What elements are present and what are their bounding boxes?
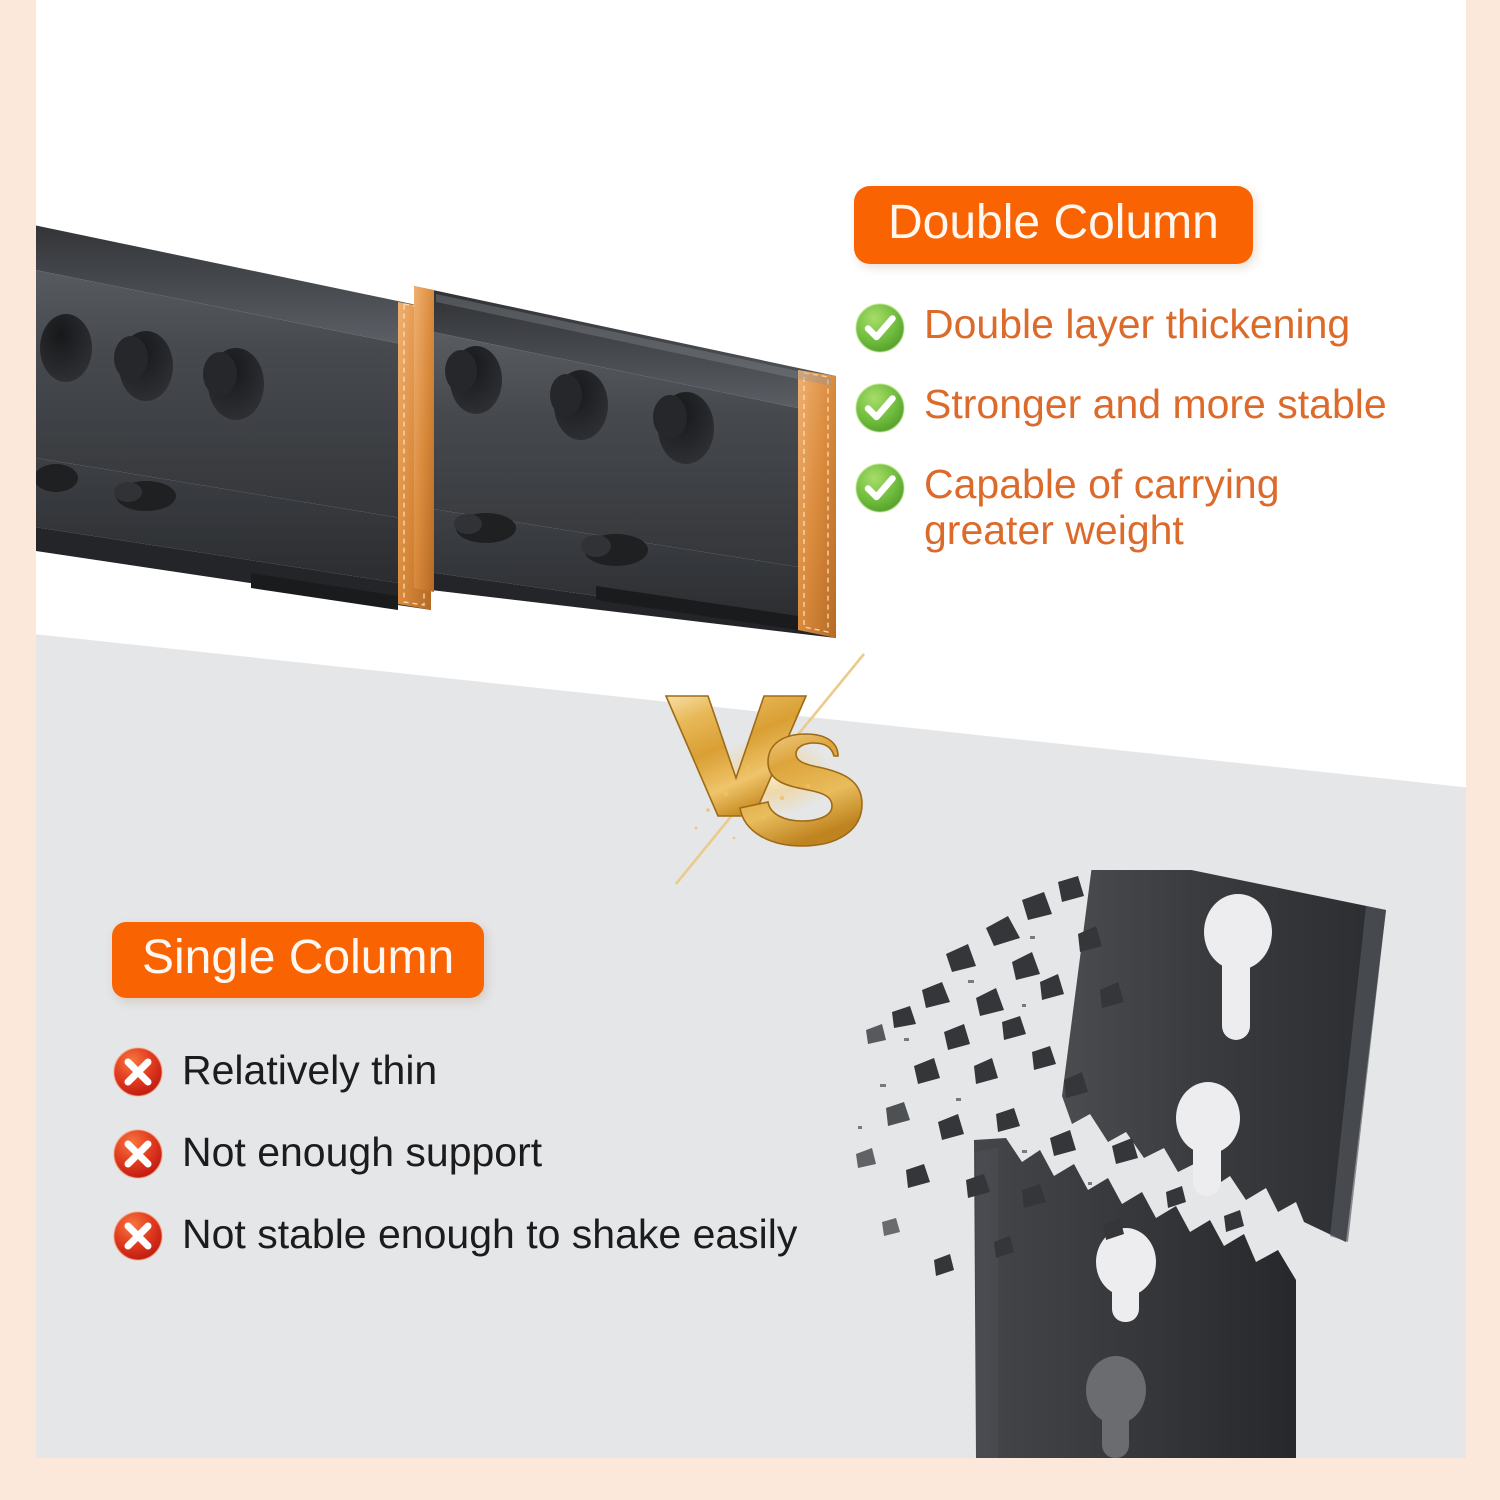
double-column-badge: Double Column — [854, 186, 1253, 264]
check-circle-icon — [854, 302, 906, 354]
drawback-item: Not enough support — [112, 1126, 912, 1180]
drawback-item: Relatively thin — [112, 1044, 912, 1098]
drawback-label: Not enough support — [182, 1130, 542, 1175]
single-column-broken-photo — [826, 870, 1466, 1458]
feature-item: Stronger and more stable — [854, 380, 1464, 434]
cross-circle-icon — [112, 1210, 164, 1262]
single-column-section: Single Column — [112, 922, 912, 1262]
beam-back — [36, 213, 431, 610]
drawback-label: Not stable enough to shake easily — [182, 1212, 797, 1257]
feature-label: Stronger and more stable — [924, 380, 1387, 428]
infographic-page: Double Column — [0, 0, 1500, 1500]
check-circle-icon — [854, 382, 906, 434]
feature-label: Capable of carrying greater weight — [924, 460, 1280, 554]
feature-label: Double layer thickening — [924, 300, 1350, 348]
cross-circle-icon — [112, 1128, 164, 1180]
broken-beam-illustration — [826, 870, 1466, 1458]
feature-item: Double layer thickening — [854, 300, 1464, 354]
cross-circle-icon — [112, 1046, 164, 1098]
drawback-label: Relatively thin — [182, 1048, 437, 1093]
beam-front — [414, 286, 836, 638]
steel-beams-illustration — [36, 118, 846, 638]
single-column-drawback-list: Relatively thin Not enough support — [112, 1044, 912, 1262]
single-column-badge: Single Column — [112, 922, 484, 998]
content-canvas: Double Column — [36, 0, 1466, 1458]
drawback-item: Not stable enough to shake easily — [112, 1208, 912, 1262]
double-column-badge-label: Double Column — [888, 196, 1219, 249]
double-column-feature-list: Double layer thickening Stronger and mor… — [854, 300, 1464, 554]
check-circle-icon — [854, 462, 906, 514]
single-column-badge-label: Single Column — [142, 931, 454, 984]
double-column-section: Double Column — [854, 186, 1464, 554]
double-column-product-photo — [36, 118, 846, 638]
feature-item: Capable of carrying greater weight — [854, 460, 1464, 554]
versus-badge — [636, 648, 936, 888]
